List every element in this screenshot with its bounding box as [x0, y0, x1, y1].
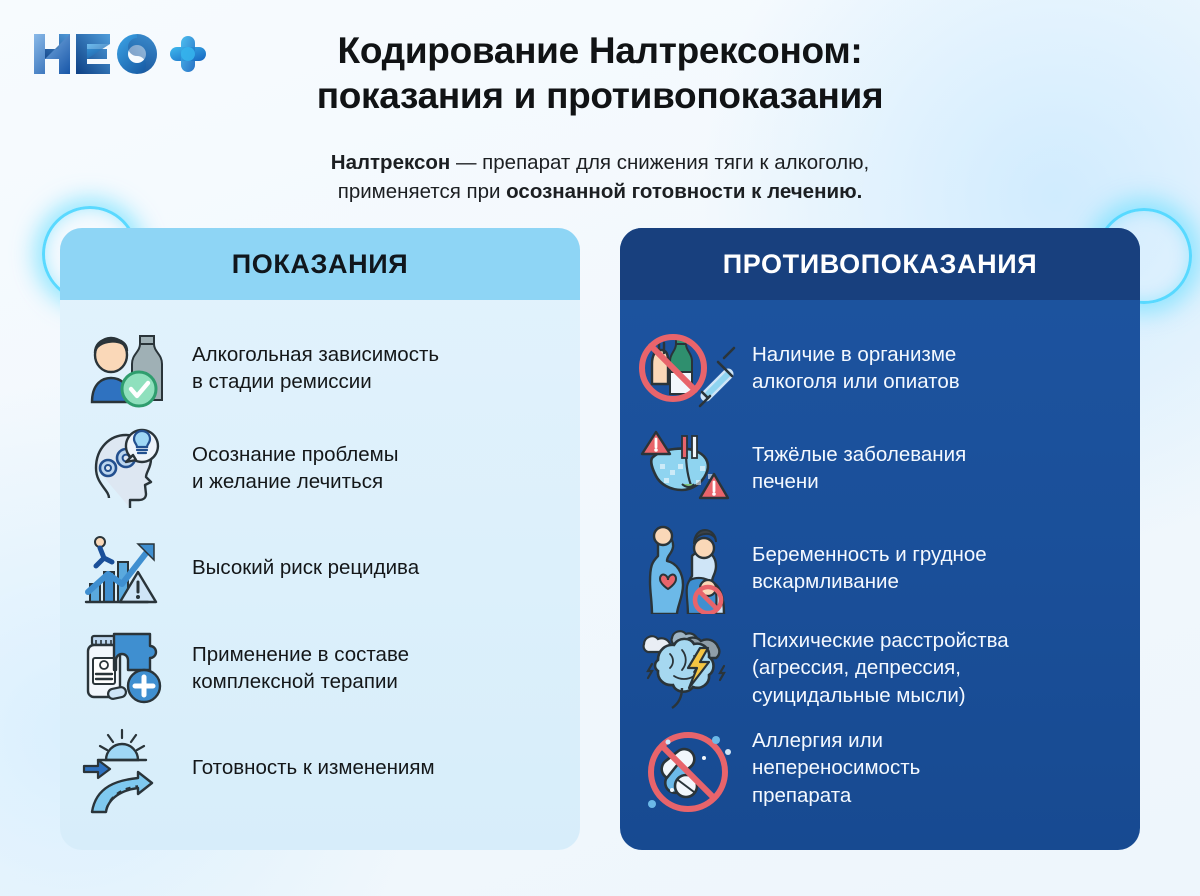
- list-item: Осознание проблемыи желание лечиться: [78, 418, 554, 518]
- list-item-text: Применение в составекомплексной терапии: [182, 641, 409, 696]
- list-item-text: Беременность и грудноевскармливание: [742, 541, 987, 596]
- indications-card-heading: ПОКАЗАНИЯ: [60, 228, 580, 300]
- list-item: Тяжёлые заболеванияпечени: [638, 418, 1114, 518]
- page-subtitle-line-2: применяется при осознанной готовности к …: [220, 177, 980, 206]
- contraindications-card-heading: ПРОТИВОПОКАЗАНИЯ: [620, 228, 1140, 300]
- subtitle-line-1-rest: — препарат для снижения тяги к алкоголю,: [450, 151, 869, 174]
- list-item-text: Алкогольная зависимостьв стадии ремиссии: [182, 341, 439, 396]
- page-title-line-1: Кодирование Налтрексоном:: [220, 28, 980, 73]
- brain-storm-cloud-icon: [638, 622, 742, 714]
- liver-warning-icon: [638, 422, 742, 514]
- subtitle-line-2-pre: применяется при: [338, 180, 506, 203]
- page-title-line-2: показания и противопоказания: [220, 73, 980, 118]
- no-pills-allergy-icon: [638, 722, 742, 814]
- list-item: Наличие в организмеалкоголя или опиатов: [638, 318, 1114, 418]
- contraindications-card: ПРОТИВОПОКАЗАНИЯ: [620, 228, 1140, 850]
- list-item-text: Высокий риск рецидива: [182, 554, 419, 581]
- list-item: Беременность и грудноевскармливание: [638, 518, 1114, 618]
- page-title: Кодирование Налтрексоном: показания и пр…: [220, 28, 980, 118]
- page-header: Кодирование Налтрексоном: показания и пр…: [0, 0, 1200, 215]
- list-item-text: Наличие в организмеалкоголя или опиатов: [742, 341, 960, 396]
- indications-items-list: Алкогольная зависимостьв стадии ремиссии: [60, 300, 580, 828]
- no-alcohol-syringe-icon: [638, 322, 742, 414]
- page-subtitle-line-1: Налтрексон — препарат для снижения тяги …: [220, 148, 980, 177]
- cards-container: ПОКАЗАНИЯ Алкогольная зависимостьв стади…: [0, 228, 1200, 858]
- list-item-text: Тяжёлые заболеванияпечени: [742, 441, 966, 496]
- person-bottle-check-icon: [78, 322, 182, 414]
- subtitle-drug-name: Налтрексон: [331, 151, 451, 174]
- list-item: Применение в составекомплексной терапии: [78, 618, 554, 718]
- rising-chart-warning-icon: [78, 522, 182, 614]
- head-gears-lightbulb-icon: [78, 422, 182, 514]
- contraindications-items-list: Наличие в организмеалкоголя или опиатов: [620, 300, 1140, 828]
- list-item: Высокий риск рецидива: [78, 518, 554, 618]
- list-item-text: Готовность к изменениям: [182, 754, 435, 781]
- page-subtitle: Налтрексон — препарат для снижения тяги …: [220, 148, 980, 206]
- subtitle-line-2-bold: осознанной готовности к лечению.: [506, 180, 862, 203]
- sunrise-road-arrow-icon: [78, 722, 182, 814]
- list-item-text: Психические расстройства(агрессия, депре…: [742, 627, 1009, 709]
- list-item-text: Осознание проблемыи желание лечиться: [182, 441, 399, 496]
- heo-plus-logo: [32, 28, 208, 80]
- list-item: Алкогольная зависимостьв стадии ремиссии: [78, 318, 554, 418]
- indications-card: ПОКАЗАНИЯ Алкогольная зависимостьв стади…: [60, 228, 580, 850]
- list-item: Аллергия илинепереносимостьпрепарата: [638, 718, 1114, 818]
- list-item: Психические расстройства(агрессия, депре…: [638, 618, 1114, 718]
- pregnancy-breastfeeding-ban-icon: [638, 522, 742, 614]
- list-item-text: Аллергия илинепереносимостьпрепарата: [742, 727, 920, 809]
- list-item: Готовность к изменениям: [78, 718, 554, 818]
- medicine-bottle-puzzle-plus-icon: [78, 622, 182, 714]
